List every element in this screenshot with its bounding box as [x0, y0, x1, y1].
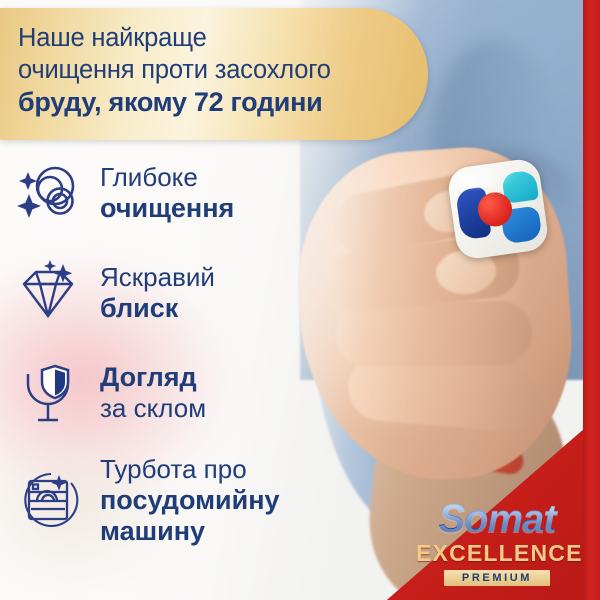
feature-regular-text: Глибоке — [100, 162, 234, 193]
somat-logo: Somat EXCELLENCE PREMIUM — [416, 497, 578, 586]
glass-shield-icon — [12, 356, 86, 430]
advertisement-banner: Наше найкраще очищення проти засохлого б… — [0, 0, 600, 600]
feature-item-glass-care: Догляд за склом — [0, 356, 330, 430]
feature-regular-text: Турбота про — [100, 454, 280, 485]
feature-bold-text: Догляд — [100, 362, 206, 393]
feature-label-glass-care: Догляд за склом — [100, 362, 206, 424]
headline-text-block: Наше найкраще очищення проти засохлого б… — [18, 22, 382, 118]
headline-line-2: очищення проти засохлого — [18, 54, 382, 86]
feature-label-dishwasher-care: Турбота про посудомийну машину — [100, 454, 280, 547]
feature-item-dishwasher-care: Турбота про посудомийну машину — [0, 454, 330, 547]
headline-banner: Наше найкраще очищення проти засохлого б… — [0, 8, 428, 140]
feature-label-deep-clean: Глибоке очищення — [100, 162, 234, 224]
headline-line-1: Наше найкраще — [18, 22, 382, 54]
feature-bold-text: блиск — [100, 293, 215, 324]
feature-item-deep-clean: Глибоке очищення — [0, 156, 330, 230]
feature-bold-text-2: машину — [100, 516, 280, 547]
feature-bold-text: посудомийну — [100, 485, 280, 516]
feature-list: Глибоке очищення Яскравий блиск — [0, 156, 330, 553]
feature-regular-text: за склом — [100, 393, 206, 424]
deep-clean-icon — [12, 156, 86, 230]
feature-label-shine: Яскравий блиск — [100, 262, 215, 324]
red-edge-stripe — [583, 0, 600, 600]
product-tier: EXCELLENCE — [416, 541, 578, 566]
feature-regular-text: Яскравий — [100, 262, 215, 293]
feature-bold-text: очищення — [100, 193, 234, 224]
diamond-icon — [12, 256, 86, 330]
feature-item-shine: Яскравий блиск — [0, 256, 330, 330]
premium-badge: PREMIUM — [444, 570, 550, 586]
brand-name: Somat — [416, 497, 578, 541]
dishwasher-icon — [12, 464, 86, 538]
headline-line-3: бруду, якому 72 години — [18, 86, 382, 118]
